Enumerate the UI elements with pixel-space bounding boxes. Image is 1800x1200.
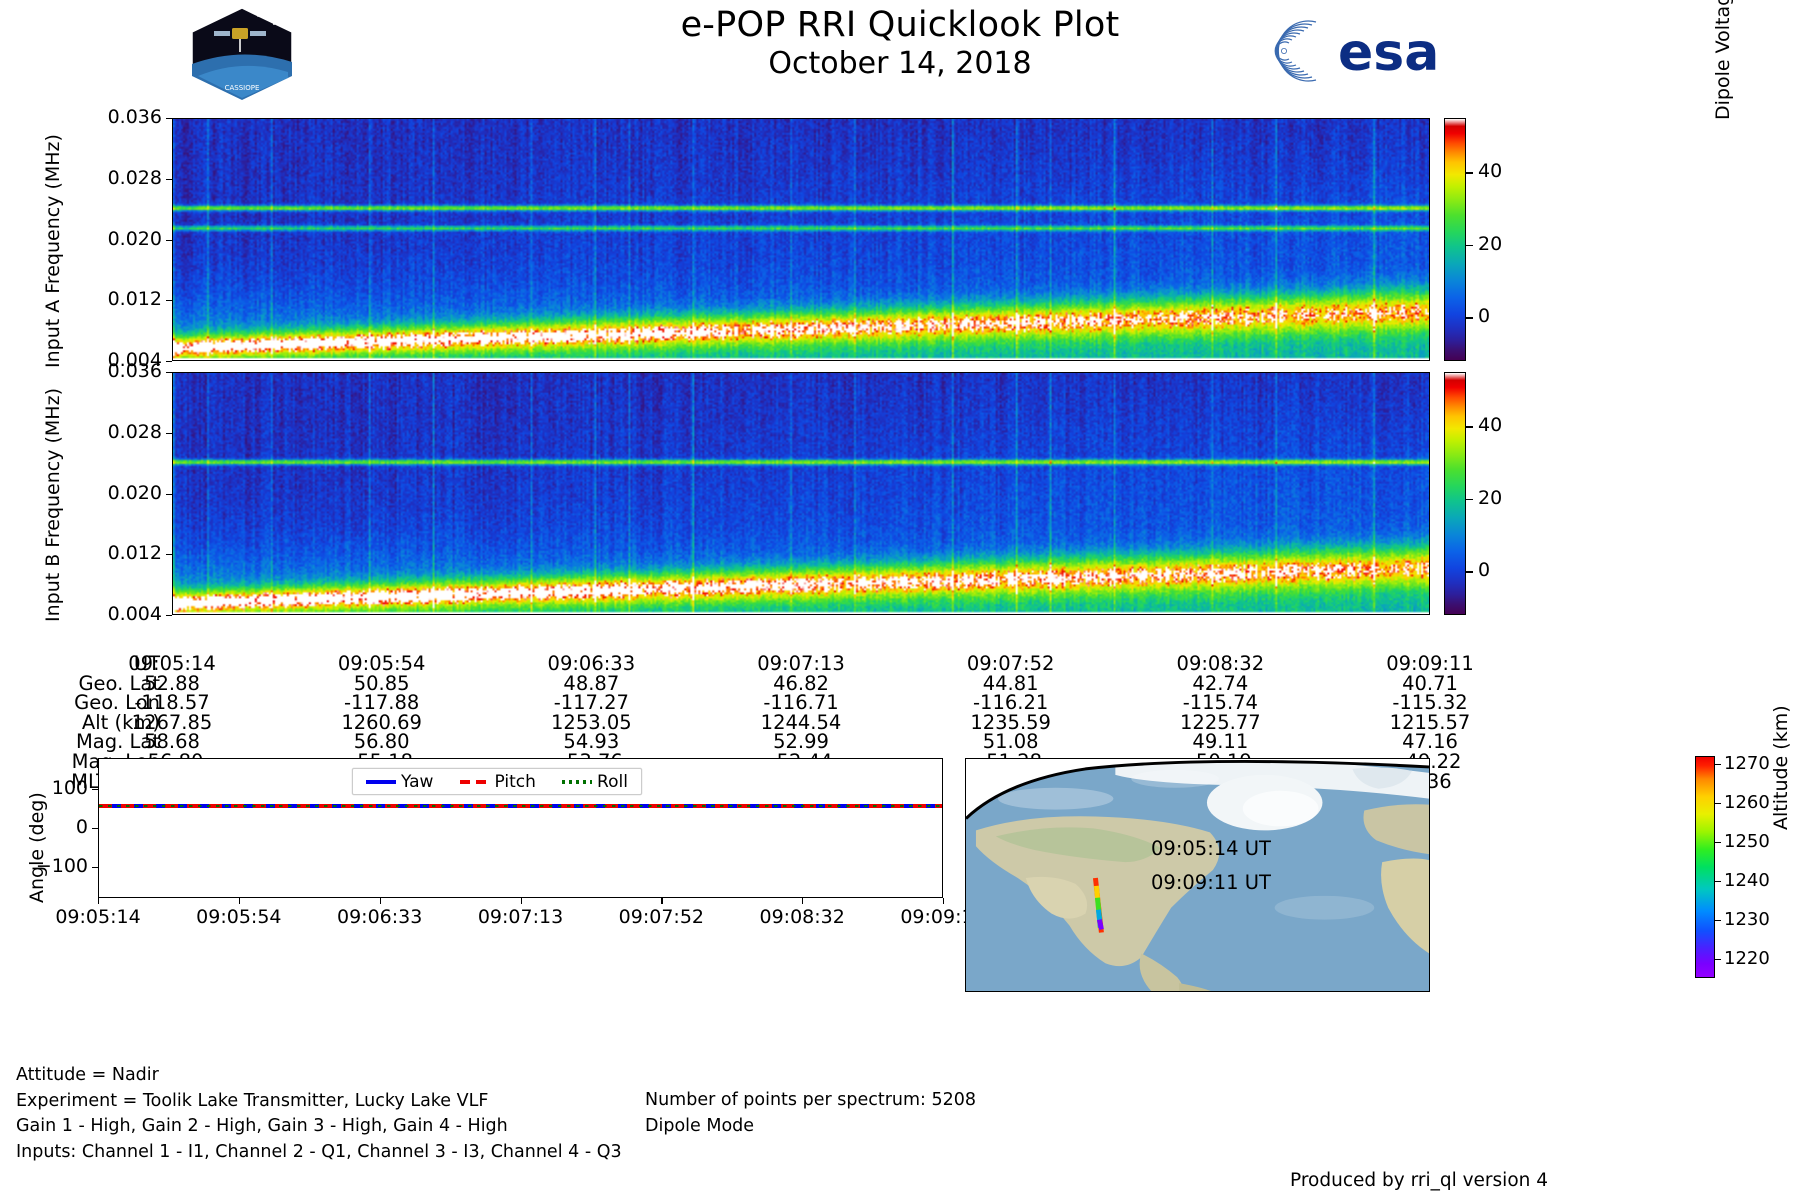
attitude-roll-trace xyxy=(99,805,942,808)
attitude-xtick-mark xyxy=(661,898,662,904)
esa-wordmark: esa xyxy=(1338,23,1439,83)
colorbar-input-a xyxy=(1444,118,1466,361)
footer-experiment: Experiment = Toolik Lake Transmitter, Lu… xyxy=(16,1089,622,1115)
attitude-xtick-mark xyxy=(802,898,803,904)
colorbar-b-gradient xyxy=(1445,373,1465,614)
ytick-label: 0.020 xyxy=(78,482,162,504)
spectrogram-b-canvas xyxy=(173,373,1429,614)
ytick-label: 0.012 xyxy=(78,542,162,564)
ephemeris-row: UT09:05:1409:05:5409:06:3309:07:1309:07:… xyxy=(0,652,1800,672)
attitude-xtick-mark xyxy=(380,898,381,904)
altitude-tick-mark xyxy=(1714,803,1721,804)
colorbar-tick-mark xyxy=(1466,426,1473,427)
colorbar-a-gradient xyxy=(1445,119,1465,360)
colorbar-tick-label: 0 xyxy=(1478,559,1490,581)
altitude-tick-mark xyxy=(1714,842,1721,843)
attitude-xtick-label: 09:05:14 xyxy=(33,906,163,928)
title-subtitle: October 14, 2018 xyxy=(380,47,1420,82)
altitude-tick-label: 1250 xyxy=(1724,831,1770,852)
footer-points-per-spectrum: Number of points per spectrum: 5208 xyxy=(645,1088,976,1114)
altitude-tick-label: 1230 xyxy=(1724,909,1770,930)
attitude-ytick-mark xyxy=(92,789,98,790)
altitude-tick-label: 1270 xyxy=(1724,753,1770,774)
altitude-tick-mark xyxy=(1714,881,1721,882)
ytick-label: 0.028 xyxy=(78,421,162,443)
ephemeris-row: Geo. Lon-118.57-117.88-117.27-116.71-116… xyxy=(0,691,1800,711)
attitude-xtick-mark xyxy=(521,898,522,904)
colorbar-axis-title-text: Dipole Voltage 20log(μVᴪs) xyxy=(1712,0,1734,120)
ground-track-map[interactable]: 09:05:14 UT 09:09:11 UT xyxy=(965,758,1430,992)
colorbar-tick-mark xyxy=(1466,499,1473,500)
attitude-xtick-label: 09:07:52 xyxy=(596,906,726,928)
attitude-xtick-mark xyxy=(98,898,99,904)
esa-logo-icon: esa xyxy=(1272,16,1472,86)
altitude-colorbar-title: Altitude (km) xyxy=(1770,830,1800,852)
attitude-ylabel: Angle (deg) xyxy=(26,792,48,903)
footer-inputs: Inputs: Channel 1 - I1, Channel 2 - Q1, … xyxy=(16,1140,622,1166)
title-main: e-POP RRI Quicklook Plot xyxy=(380,6,1420,45)
legend-swatch-pitch-icon xyxy=(460,780,490,784)
colorbar-tick-label: 40 xyxy=(1478,414,1502,436)
altitude-tick-mark xyxy=(1714,959,1721,960)
ytick-label: 0.004 xyxy=(78,603,162,625)
ytick-mark xyxy=(166,615,172,616)
footer-dipole-mode: Dipole Mode xyxy=(645,1114,976,1140)
attitude-xtick-label: 09:05:54 xyxy=(174,906,304,928)
altitude-tick-label: 1240 xyxy=(1724,870,1770,891)
colorbar-tick-label: 40 xyxy=(1478,160,1502,182)
altitude-colorbar xyxy=(1695,756,1715,978)
ytick-mark xyxy=(166,361,172,362)
spectrogram-input-a[interactable] xyxy=(172,118,1430,361)
attitude-xtick-mark xyxy=(239,898,240,904)
ephemeris-row: Geo. Lat52.8850.8548.8746.8244.8142.7440… xyxy=(0,672,1800,692)
cassiope-logo-text: CASSIOPE xyxy=(225,84,260,92)
attitude-xtick-label: 09:08:32 xyxy=(737,906,867,928)
ytick-label: 0.036 xyxy=(78,106,162,128)
colorbar-tick-mark xyxy=(1466,172,1473,173)
map-start-time-label: 09:05:14 UT xyxy=(1151,837,1271,860)
altitude-colorbar-title-text: Altitude (km) xyxy=(1770,705,1792,830)
attitude-ytick-label: 100 xyxy=(18,777,88,799)
legend-swatch-yaw-icon xyxy=(366,780,396,784)
panel-a-ylabel: Input A Frequency (MHz) xyxy=(42,134,64,368)
legend-item-pitch: Pitch xyxy=(460,772,536,792)
colorbar-tick-label: 20 xyxy=(1478,233,1502,255)
altitude-tick-mark xyxy=(1714,764,1721,765)
ytick-label: 0.036 xyxy=(78,360,162,382)
produced-by-label: Produced by rri_ql version 4 xyxy=(1290,1170,1548,1191)
legend-item-yaw: Yaw xyxy=(366,772,433,792)
panel-b-ylabel: Input B Frequency (MHz) xyxy=(42,388,64,622)
colorbar-tick-mark xyxy=(1466,245,1473,246)
ytick-label: 0.012 xyxy=(78,288,162,310)
ytick-label: 0.020 xyxy=(78,228,162,250)
footer-attitude: Attitude = Nadir xyxy=(16,1063,622,1089)
altitude-tick-label: 1220 xyxy=(1724,948,1770,969)
altitude-tick-mark xyxy=(1714,920,1721,921)
page-title: e-POP RRI Quicklook Plot October 14, 201… xyxy=(380,6,1420,82)
attitude-xtick-label: 09:07:13 xyxy=(456,906,586,928)
colorbar-tick-mark xyxy=(1466,571,1473,572)
attitude-ytick-label: −100 xyxy=(18,855,88,877)
legend-label-yaw: Yaw xyxy=(401,772,433,792)
colorbar-axis-title: Dipole Voltage 20log(μVᴪs) xyxy=(1712,120,1800,142)
attitude-ytick-label: 0 xyxy=(18,816,88,838)
legend-item-roll: Roll xyxy=(562,772,628,792)
legend-label-pitch: Pitch xyxy=(495,772,536,792)
colorbar-input-b xyxy=(1444,372,1466,615)
attitude-ytick-mark xyxy=(92,828,98,829)
footer-gains: Gain 1 - High, Gain 2 - High, Gain 3 - H… xyxy=(16,1114,622,1140)
attitude-xtick-label: 09:06:33 xyxy=(315,906,445,928)
ytick-label: 0.028 xyxy=(78,167,162,189)
colorbar-tick-mark xyxy=(1466,317,1473,318)
legend-swatch-roll-icon xyxy=(562,780,592,784)
legend-label-roll: Roll xyxy=(597,772,628,792)
altitude-colorbar-gradient xyxy=(1696,757,1714,977)
spectrogram-input-b[interactable] xyxy=(172,372,1430,615)
footer-right: Number of points per spectrum: 5208 Dipo… xyxy=(645,1088,976,1139)
ephemeris-row: Mag. Lat58.6856.8054.9352.9951.0849.1147… xyxy=(0,730,1800,750)
attitude-ytick-mark xyxy=(92,867,98,868)
attitude-xtick-mark xyxy=(943,898,944,904)
attitude-legend: Yaw Pitch Roll xyxy=(352,768,642,795)
colorbar-tick-label: 20 xyxy=(1478,487,1502,509)
colorbar-tick-label: 0 xyxy=(1478,305,1490,327)
cassiope-logo-icon: CASSIOPE xyxy=(188,6,296,102)
spectrogram-a-canvas xyxy=(173,119,1429,360)
ephemeris-row: Alt (km)1267.851260.691253.051244.541235… xyxy=(0,711,1800,731)
altitude-tick-label: 1260 xyxy=(1724,792,1770,813)
footer-left: Attitude = Nadir Experiment = Toolik Lak… xyxy=(16,1063,622,1165)
map-end-time-label: 09:09:11 UT xyxy=(1151,871,1271,894)
